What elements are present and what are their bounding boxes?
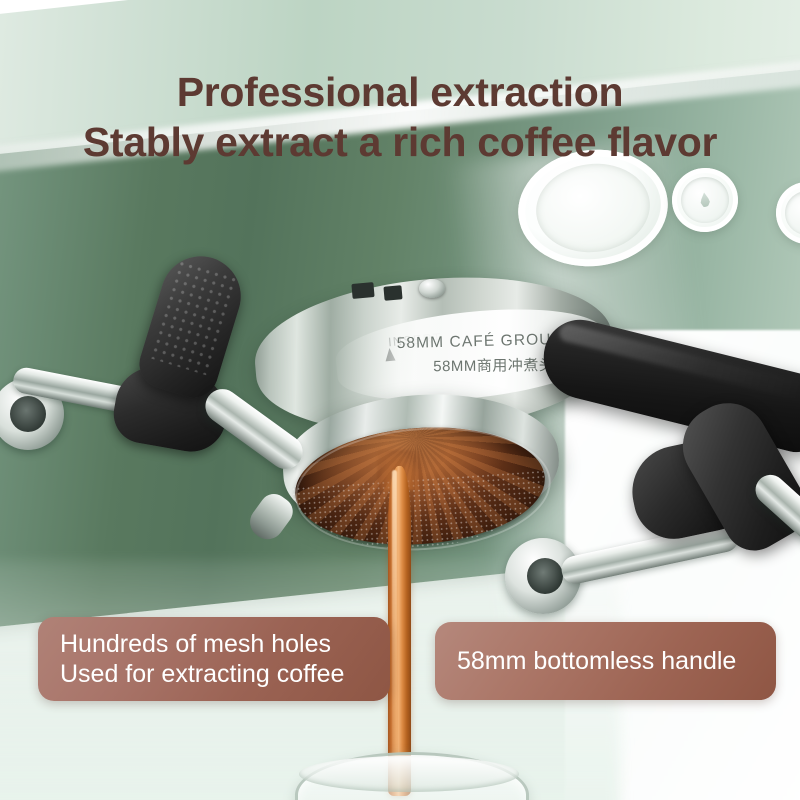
- brew-button-face: [782, 188, 800, 238]
- badge-right-line-1: 58mm bottomless handle: [457, 646, 754, 677]
- group-head-engraving-en: 58MM CAFÉ GROUP: [396, 331, 563, 353]
- water-drop-icon: [699, 192, 712, 208]
- left-wand-base-hole: [10, 396, 46, 432]
- espresso-stream-highlight: [392, 470, 397, 790]
- headline: Professional extraction Stably extract a…: [0, 70, 800, 165]
- headline-line-1: Professional extraction: [0, 70, 800, 114]
- glass-cup-rim: [299, 756, 519, 792]
- promo-banner: INSERT 58MM CAFÉ GROUP 58MM商用冲煮头: [0, 0, 800, 800]
- group-head-tab: [383, 285, 402, 301]
- headline-line-2: Stably extract a rich coffee flavor: [0, 120, 800, 164]
- badge-left-line-2: Used for extracting coffee: [60, 659, 368, 690]
- brew-button-face: [679, 174, 732, 226]
- feature-badge-bottomless-handle: 58mm bottomless handle: [435, 622, 776, 700]
- feature-badge-mesh-holes: Hundreds of mesh holes Used for extracti…: [38, 617, 390, 701]
- group-head-engraving-cn: 58MM商用冲煮头: [433, 354, 554, 376]
- group-head-tab: [351, 282, 374, 299]
- pressure-gauge-face: [531, 157, 655, 258]
- badge-left-line-1: Hundreds of mesh holes: [60, 629, 368, 660]
- group-head-screw: [419, 279, 445, 298]
- right-wand-base-hole: [527, 558, 563, 594]
